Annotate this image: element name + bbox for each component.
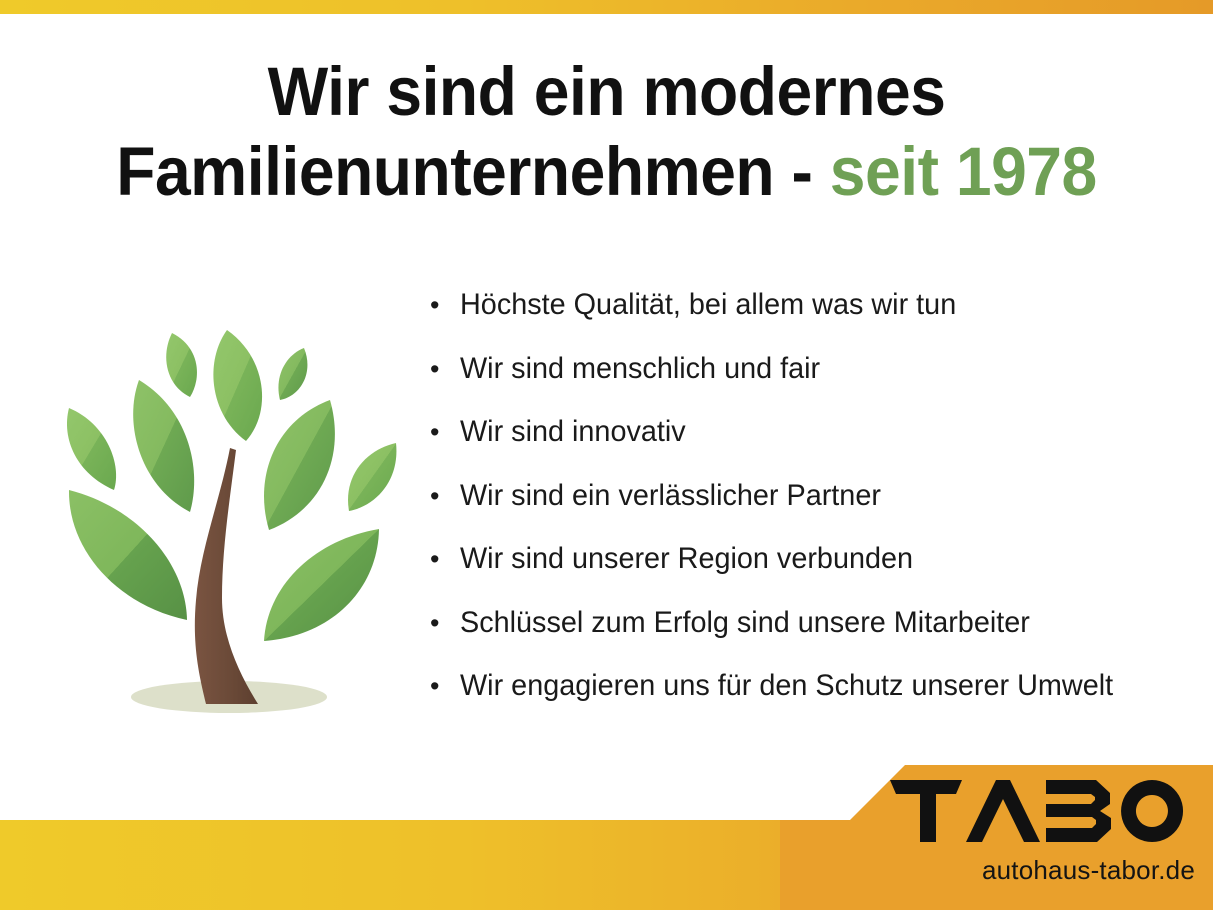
- page-title: Wir sind ein modernes Familienunternehme…: [42, 52, 1170, 212]
- tree-leaf: [213, 330, 262, 441]
- list-item-label: Schlüssel zum Erfolg sind unsere Mitarbe…: [460, 606, 1030, 640]
- list-item: • Wir sind menschlich und fair: [430, 352, 1200, 416]
- tree-trunk: [195, 448, 258, 704]
- tree-leaf: [133, 380, 194, 512]
- headline-accent-year: seit 1978: [830, 133, 1097, 210]
- tree-icon-svg: [24, 300, 424, 740]
- list-item: • Wir sind ein verlässlicher Partner: [430, 479, 1200, 543]
- tree-leaf: [264, 529, 379, 641]
- list-item-label: Wir engagieren uns für den Schutz unsere…: [460, 669, 1113, 703]
- brand-logo[interactable]: autohaus-tabor.de: [780, 755, 1213, 910]
- list-item: • Wir engagieren uns für den Schutz unse…: [430, 669, 1200, 733]
- tree-leaf: [166, 333, 197, 397]
- bullet-marker-icon: •: [430, 483, 460, 510]
- bullet-marker-icon: •: [430, 610, 460, 637]
- list-item-label: Wir sind unserer Region verbunden: [460, 542, 913, 576]
- list-item-label: Wir sind menschlich und fair: [460, 352, 820, 386]
- bullet-marker-icon: •: [430, 356, 460, 383]
- tree-icon: [24, 300, 424, 740]
- bullet-marker-icon: •: [430, 419, 460, 446]
- tree-leaf: [278, 348, 307, 400]
- top-accent-bar: [0, 0, 1213, 14]
- slide-canvas: Wir sind ein modernes Familienunternehme…: [0, 0, 1213, 910]
- list-item: • Höchste Qualität, bei allem was wir tu…: [430, 288, 1200, 352]
- tree-leaf: [69, 490, 187, 620]
- list-item: • Wir sind innovativ: [430, 415, 1200, 479]
- tree-leaf: [264, 400, 335, 530]
- list-item-label: Höchste Qualität, bei allem was wir tun: [460, 288, 956, 322]
- bullet-marker-icon: •: [430, 673, 460, 700]
- list-item: • Wir sind unserer Region verbunden: [430, 542, 1200, 606]
- headline-line-1: Wir sind ein modernes: [42, 52, 1170, 132]
- list-item-label: Wir sind innovativ: [460, 415, 686, 449]
- brand-tagline[interactable]: autohaus-tabor.de: [780, 855, 1213, 886]
- values-list: • Höchste Qualität, bei allem was wir tu…: [430, 288, 1200, 733]
- headline-line-2: Familienunternehmen - seit 1978: [42, 132, 1170, 212]
- headline-line-2-prefix: Familienunternehmen -: [116, 133, 830, 210]
- list-item-label: Wir sind ein verlässlicher Partner: [460, 479, 881, 513]
- tree-leaf: [67, 408, 116, 490]
- list-item: • Schlüssel zum Erfolg sind unsere Mitar…: [430, 606, 1200, 670]
- bullet-marker-icon: •: [430, 546, 460, 573]
- tree-leaf: [348, 443, 396, 511]
- bullet-marker-icon: •: [430, 292, 460, 319]
- brand-wordmark-icon: [890, 780, 1190, 842]
